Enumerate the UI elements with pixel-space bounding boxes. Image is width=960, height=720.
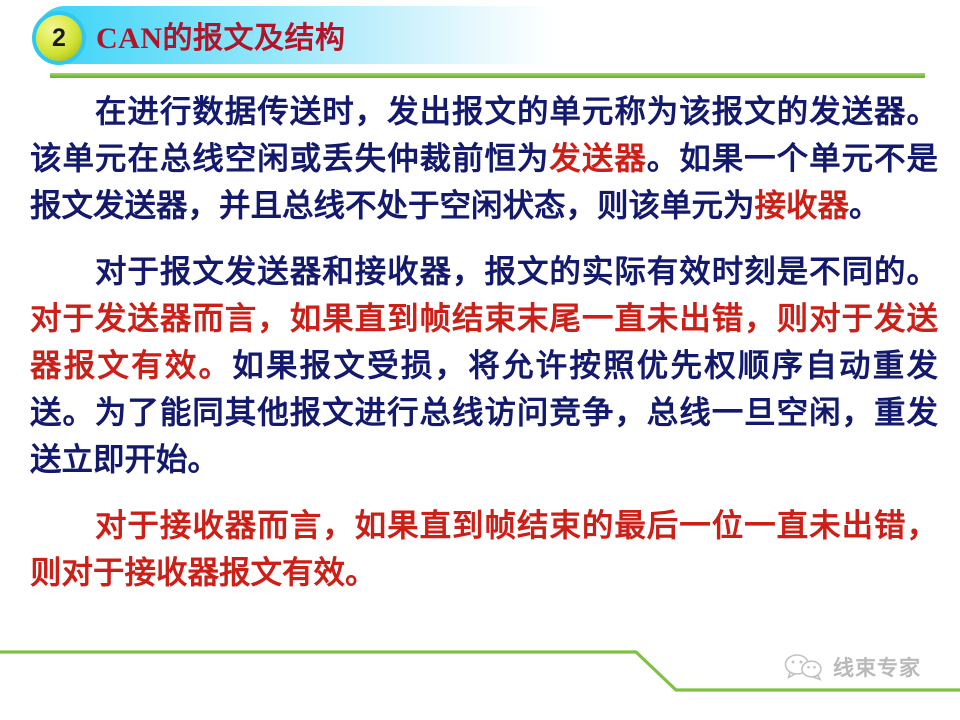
body-text-run: 。: [849, 188, 881, 223]
body-paragraph-3: 对于接收器而言，如果直到帧结束的最后一位一直未出错，则对于接收器报文有效。: [0, 502, 960, 596]
header-divider-rule: [50, 73, 925, 78]
body-paragraph-1: 在进行数据传送时，发出报文的单元称为该报文的发送器。该单元在总线空闲或丢失仲裁前…: [0, 88, 960, 229]
section-number-badge: 2: [36, 15, 82, 61]
slide-body: 在进行数据传送时，发出报文的单元称为该报文的发送器。该单元在总线空闲或丢失仲裁前…: [0, 88, 960, 640]
watermark-label: 线束专家: [833, 652, 921, 682]
slide-header: 2 CAN的报文及结构: [0, 0, 960, 80]
footer-watermark: 线束专家: [782, 652, 921, 682]
emphasis-text-run: 发送器: [549, 141, 646, 176]
wechat-icon: [782, 652, 824, 682]
section-number-label: 2: [52, 26, 66, 51]
page-title: CAN的报文及结构: [96, 13, 346, 57]
emphasis-text-run: 对于接收器而言，如果直到帧结束的最后一位一直未出错，则对于接收器报文有效。: [30, 508, 938, 590]
body-text-run: 对于报文发送器和接收器，报文的实际有效时刻是不同的。: [94, 254, 938, 289]
emphasis-text-run: 接收器: [755, 188, 850, 223]
body-paragraph-2: 对于报文发送器和接收器，报文的实际有效时刻是不同的。对于发送器而言，如果直到帧结…: [0, 248, 960, 483]
